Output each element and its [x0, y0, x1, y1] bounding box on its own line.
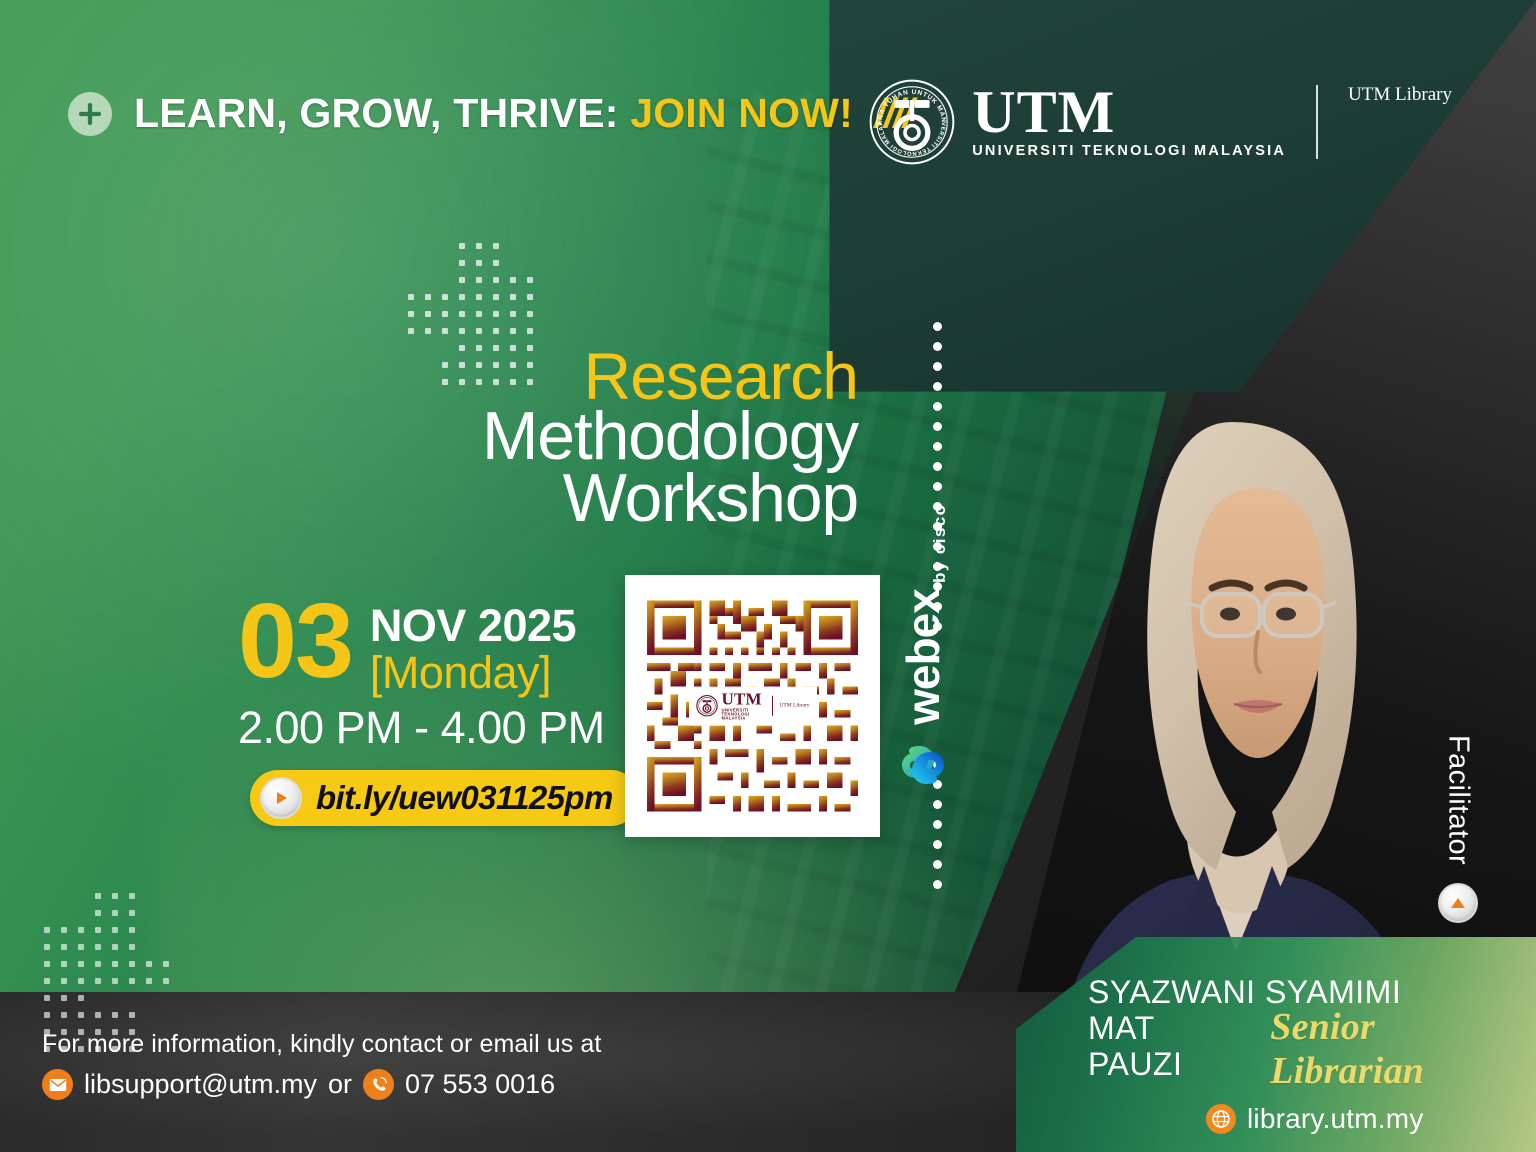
plus-circle-icon	[68, 92, 112, 136]
event-month-year: NOV 2025	[370, 603, 576, 649]
facilitator-label: Facilitator	[1442, 735, 1475, 865]
utm-wordmark: UTM	[972, 85, 1115, 140]
header-banner: LEARN, GROW, THRIVE: JOIN NOW! ////	[68, 90, 912, 137]
webex-branding: webex by cisco	[895, 500, 951, 798]
footer-contact: For more information, kindly contact or …	[42, 1030, 601, 1100]
webex-logo-icon	[895, 737, 951, 798]
facilitator-website: library.utm.my	[1247, 1103, 1424, 1135]
poster-canvas: LEARN, GROW, THRIVE: JOIN NOW! //// KERA…	[0, 0, 1536, 1152]
page-title: Research Methodology Workshop	[482, 345, 858, 531]
webex-by-cisco: by cisco	[930, 500, 950, 583]
title-line-3: Workshop	[482, 466, 858, 531]
qr-center-logo: UTM UNIVERSITI TEKNOLOGI MALAYSIA UTM Li…	[689, 687, 817, 726]
facilitator-label-group: Facilitator	[1438, 735, 1478, 923]
utm-library-label: UTM Library	[1348, 84, 1452, 106]
play-circle-icon	[260, 777, 302, 819]
registration-link-text: bit.ly/uew031125pm	[316, 779, 613, 817]
utm-logo: KERANA TUHAN UNTUK MANUSIA UNIVERSITI TE…	[868, 78, 1452, 166]
qr-utm-wordmark-block: UTM UNIVERSITI TEKNOLOGI MALAYSIA	[722, 691, 765, 722]
headline-main: LEARN, GROW, THRIVE:	[134, 90, 619, 136]
footer-contact-intro: For more information, kindly contact or …	[42, 1030, 601, 1059]
qr-utm-seal-icon	[696, 695, 718, 717]
facilitator-website-row[interactable]: library.utm.my	[1206, 1103, 1536, 1135]
webex-name: webex	[896, 589, 950, 725]
phone-icon	[363, 1069, 394, 1100]
globe-icon	[1206, 1104, 1236, 1134]
footer-email[interactable]: libsupport@utm.my	[84, 1069, 317, 1100]
qr-utm-library-label: UTM Library	[779, 703, 809, 709]
headline: LEARN, GROW, THRIVE: JOIN NOW! ////	[134, 90, 912, 137]
facilitator-name-panel: SYAZWANI SYAMIMI MAT PAUZI Senior Librar…	[1016, 937, 1536, 1152]
facilitator-name-line-2: MAT PAUZI	[1088, 1011, 1256, 1083]
utm-wordmark-block: UTM UNIVERSITI TEKNOLOGI MALAYSIA	[972, 85, 1286, 158]
footer-conjunction: or	[328, 1069, 352, 1100]
envelope-icon	[42, 1069, 73, 1100]
registration-link-button[interactable]: bit.ly/uew031125pm	[250, 770, 639, 826]
qr-utm-tagline: UNIVERSITI TEKNOLOGI MALAYSIA	[722, 709, 765, 722]
qr-utm-wordmark: UTM	[722, 691, 765, 708]
headline-accent: JOIN NOW!	[630, 90, 853, 136]
qr-logo-divider	[772, 696, 773, 716]
triangle-up-icon	[1438, 883, 1478, 923]
webex-text-block: webex by cisco	[896, 500, 950, 725]
utm-tagline: UNIVERSITI TEKNOLOGI MALAYSIA	[972, 143, 1286, 159]
qr-code[interactable]: UTM UNIVERSITI TEKNOLOGI MALAYSIA UTM Li…	[625, 575, 880, 837]
event-day: 03	[238, 595, 352, 688]
event-weekday: [Monday]	[370, 649, 576, 696]
event-datetime: 03 NOV 2025 [Monday] 2.00 PM - 4.00 PM	[238, 595, 605, 754]
logo-divider	[1316, 85, 1318, 159]
event-time: 2.00 PM - 4.00 PM	[238, 702, 605, 754]
utm-seal-icon: KERANA TUHAN UNTUK MANUSIA UNIVERSITI TE…	[868, 78, 956, 166]
facilitator-role: Senior Librarian	[1270, 1005, 1536, 1093]
footer-phone[interactable]: 07 553 0016	[405, 1069, 555, 1100]
